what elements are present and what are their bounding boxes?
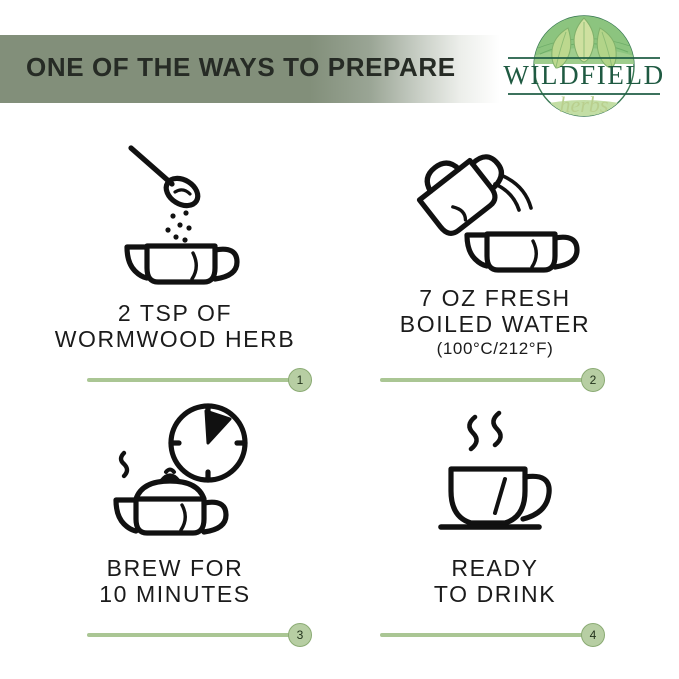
teapot-with-clock-icon — [80, 395, 270, 545]
step-2-rail: 2 — [380, 368, 605, 392]
teapot-icon — [467, 234, 577, 270]
cup-shine-icon — [495, 479, 505, 513]
step-3-line2: 10 MINUTES — [99, 581, 250, 607]
steaming-teacup-icon — [415, 395, 575, 545]
teapot-with-spoon-icon — [85, 140, 265, 290]
step-2-label: 7 OZ FRESH BOILED WATER (100°C/212°F) — [340, 285, 650, 360]
step-1-icon-wrap — [20, 140, 330, 290]
step-3-rail-line — [87, 633, 291, 637]
logo-wordmark: WILDFIELD — [503, 60, 664, 90]
step-3-rail: 3 — [87, 623, 312, 647]
step-3: BREW FOR 10 MINUTES 3 — [20, 395, 330, 645]
step-1-rail: 1 — [87, 368, 312, 392]
step-2-icon-wrap — [340, 140, 650, 290]
step-4-badge: 4 — [581, 623, 605, 647]
step-2-line1: 7 OZ FRESH — [419, 285, 570, 311]
step-2-badge: 2 — [581, 368, 605, 392]
step-4: READY TO DRINK 4 — [340, 395, 650, 645]
step-4-line1: READY — [451, 555, 538, 581]
step-1: 2 TSP OF WORMWOOD HERB 1 — [20, 140, 330, 390]
header: ONE OF THE WAYS TO PREPARE — [0, 0, 679, 140]
clock-icon — [171, 406, 245, 480]
kettle-pouring-into-teapot-icon — [395, 140, 595, 290]
step-4-rail-line — [380, 633, 584, 637]
step-2-rail-line — [380, 378, 584, 382]
herb-specks-icon — [165, 210, 191, 242]
step-3-label: BREW FOR 10 MINUTES — [20, 555, 330, 607]
pour-arc-outer-icon — [495, 184, 519, 210]
logo-script: herbs — [560, 92, 609, 117]
step-1-rail-line — [87, 378, 291, 382]
steam-icon — [121, 453, 127, 476]
cup-body-icon — [451, 469, 525, 523]
step-1-line1: 2 TSP OF — [118, 300, 232, 326]
step-4-line2: TO DRINK — [434, 581, 556, 607]
step-2-line2: BOILED WATER — [400, 311, 590, 337]
brand-logo: WILDFIELD herbs — [498, 8, 670, 128]
logo-emblem: WILDFIELD herbs — [498, 8, 670, 128]
step-4-icon-wrap — [340, 395, 650, 545]
step-3-badge: 3 — [288, 623, 312, 647]
step-2: 7 OZ FRESH BOILED WATER (100°C/212°F) 2 — [340, 140, 650, 390]
steam-icon — [469, 413, 500, 449]
step-3-line1: BREW FOR — [107, 555, 244, 581]
step-1-label: 2 TSP OF WORMWOOD HERB — [20, 300, 330, 352]
step-2-sub: (100°C/212°F) — [340, 338, 650, 360]
step-1-badge: 1 — [288, 368, 312, 392]
step-1-line2: WORMWOOD HERB — [55, 326, 296, 352]
kettle-icon — [410, 140, 516, 238]
step-4-rail: 4 — [380, 623, 605, 647]
step-4-label: READY TO DRINK — [340, 555, 650, 607]
page-title: ONE OF THE WAYS TO PREPARE — [26, 52, 456, 83]
step-3-icon-wrap — [20, 395, 330, 545]
infographic-page: ONE OF THE WAYS TO PREPARE — [0, 0, 679, 679]
